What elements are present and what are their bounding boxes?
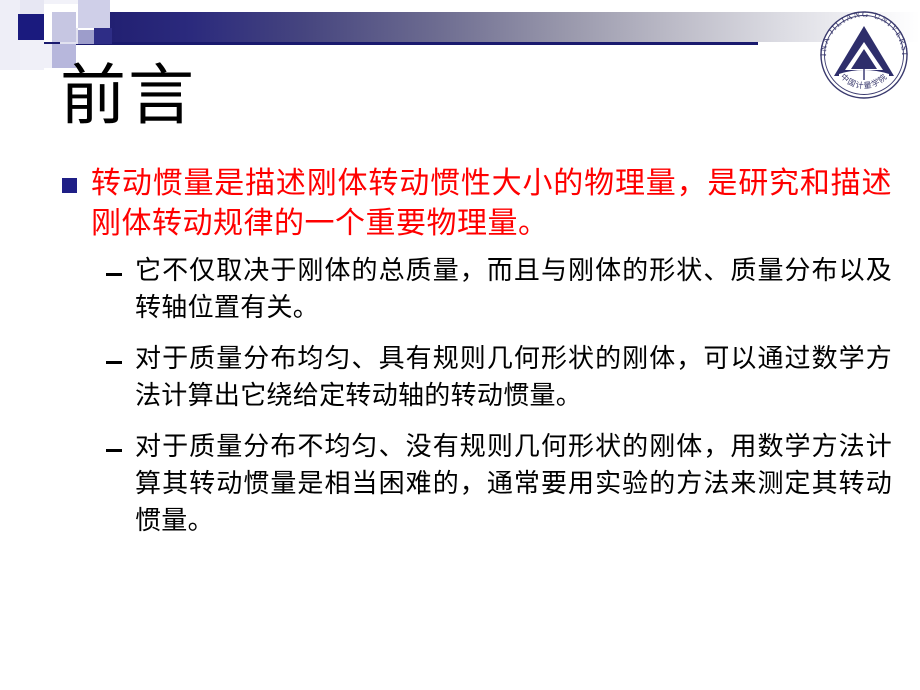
bullet-level2: 它不仅取决于刚体的总质量，而且与刚体的形状、质量分布以及转轴位置有关。: [106, 253, 892, 327]
decor-square-accent: [94, 28, 112, 44]
bullet-level1: 转动惯量是描述刚体转动惯性大小的物理量，是研究和描述刚体转动规律的一个重要物理量…: [62, 164, 892, 243]
page-title: 前言: [60, 62, 196, 131]
decor-square-pale-left: [0, 0, 20, 70]
square-bullet-icon: [62, 178, 77, 193]
decor-square-dark: [18, 14, 44, 40]
bullet-level2-text: 对于质量分布均匀、具有规则几何形状的刚体，可以通过数学方法计算出它绕给定转动轴的…: [135, 341, 892, 415]
header-gradient-band: [110, 12, 920, 42]
bullet-level2-text: 对于质量分布不均匀、没有规则几何形状的刚体，用数学方法计算其转动惯量是相当困难的…: [135, 429, 892, 540]
decor-square-pale-top: [20, 0, 44, 14]
dash-bullet-icon: [106, 449, 122, 452]
bullet-level2-text: 它不仅取决于刚体的总质量，而且与刚体的形状、质量分布以及转轴位置有关。: [135, 253, 892, 327]
bullet-level1-text: 转动惯量是描述刚体转动惯性大小的物理量，是研究和描述刚体转动规律的一个重要物理量…: [91, 164, 892, 243]
header-underline: [28, 42, 758, 45]
slide-content: 转动惯量是描述刚体转动惯性大小的物理量，是研究和描述刚体转动规律的一个重要物理量…: [62, 164, 892, 554]
decor-square-pale-lower: [20, 40, 44, 70]
bullet-level2: 对于质量分布均匀、具有规则几何形状的刚体，可以通过数学方法计算出它绕给定转动轴的…: [106, 341, 892, 415]
sub-bullet-list: 它不仅取决于刚体的总质量，而且与刚体的形状、质量分布以及转轴位置有关。 对于质量…: [62, 253, 892, 539]
dash-bullet-icon: [106, 361, 122, 364]
decor-square-light-1: [52, 12, 76, 42]
bullet-level2: 对于质量分布不均匀、没有规则几何形状的刚体，用数学方法计算其转动惯量是相当困难的…: [106, 429, 892, 540]
university-logo-icon: CHINA JILIANG UNIVERSITY 中国计量学院: [813, 4, 915, 106]
dash-bullet-icon: [106, 273, 122, 276]
decor-square-pale-thin: [44, 44, 52, 68]
decor-square-light-3: [78, 0, 110, 28]
presentation-slide: CHINA JILIANG UNIVERSITY 中国计量学院 前言 转动惯量是…: [0, 0, 920, 690]
